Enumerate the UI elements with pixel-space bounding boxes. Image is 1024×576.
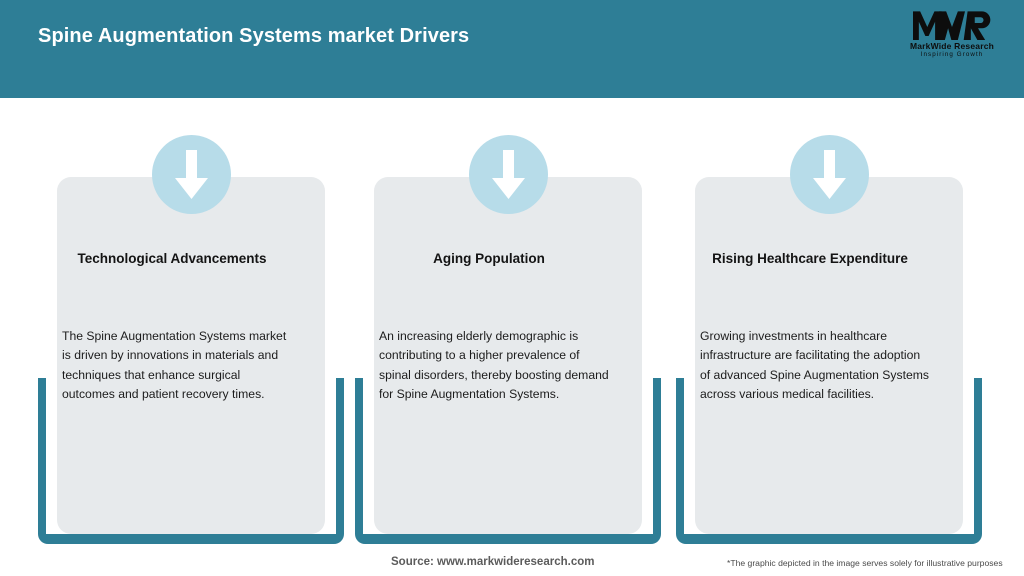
brand-logo: MarkWide Research Inspiring Growth	[898, 10, 1006, 66]
card-body: Growing investments in healthcare infras…	[700, 327, 932, 405]
page-title: Spine Augmentation Systems market Driver…	[38, 25, 469, 48]
driver-card-3[interactable]: Rising Healthcare Expenditure Growing in…	[676, 98, 982, 548]
card-body: The Spine Augmentation Systems market is…	[62, 327, 294, 405]
card-body: An increasing elderly demographic is con…	[379, 327, 611, 405]
page-header: Spine Augmentation Systems market Driver…	[0, 0, 1024, 98]
disclaimer-note: *The graphic depicted in the image serve…	[727, 558, 1003, 568]
card-title: Technological Advancements	[58, 248, 286, 269]
card-title: Rising Healthcare Expenditure	[696, 248, 924, 269]
source-label: Source: www.markwideresearch.com	[391, 556, 594, 568]
card-title: Aging Population	[375, 248, 603, 269]
driver-card-1[interactable]: Technological Advancements The Spine Aug…	[38, 98, 344, 548]
drivers-card-row: Technological Advancements The Spine Aug…	[0, 98, 1024, 548]
logo-tagline: Inspiring Growth	[898, 51, 1006, 59]
down-arrow-icon	[152, 135, 231, 214]
down-arrow-icon	[790, 135, 869, 214]
driver-card-2[interactable]: Aging Population An increasing elderly d…	[355, 98, 661, 548]
mwr-monogram-icon	[913, 10, 991, 40]
logo-company-name: MarkWide Research	[898, 41, 1006, 51]
down-arrow-icon	[469, 135, 548, 214]
